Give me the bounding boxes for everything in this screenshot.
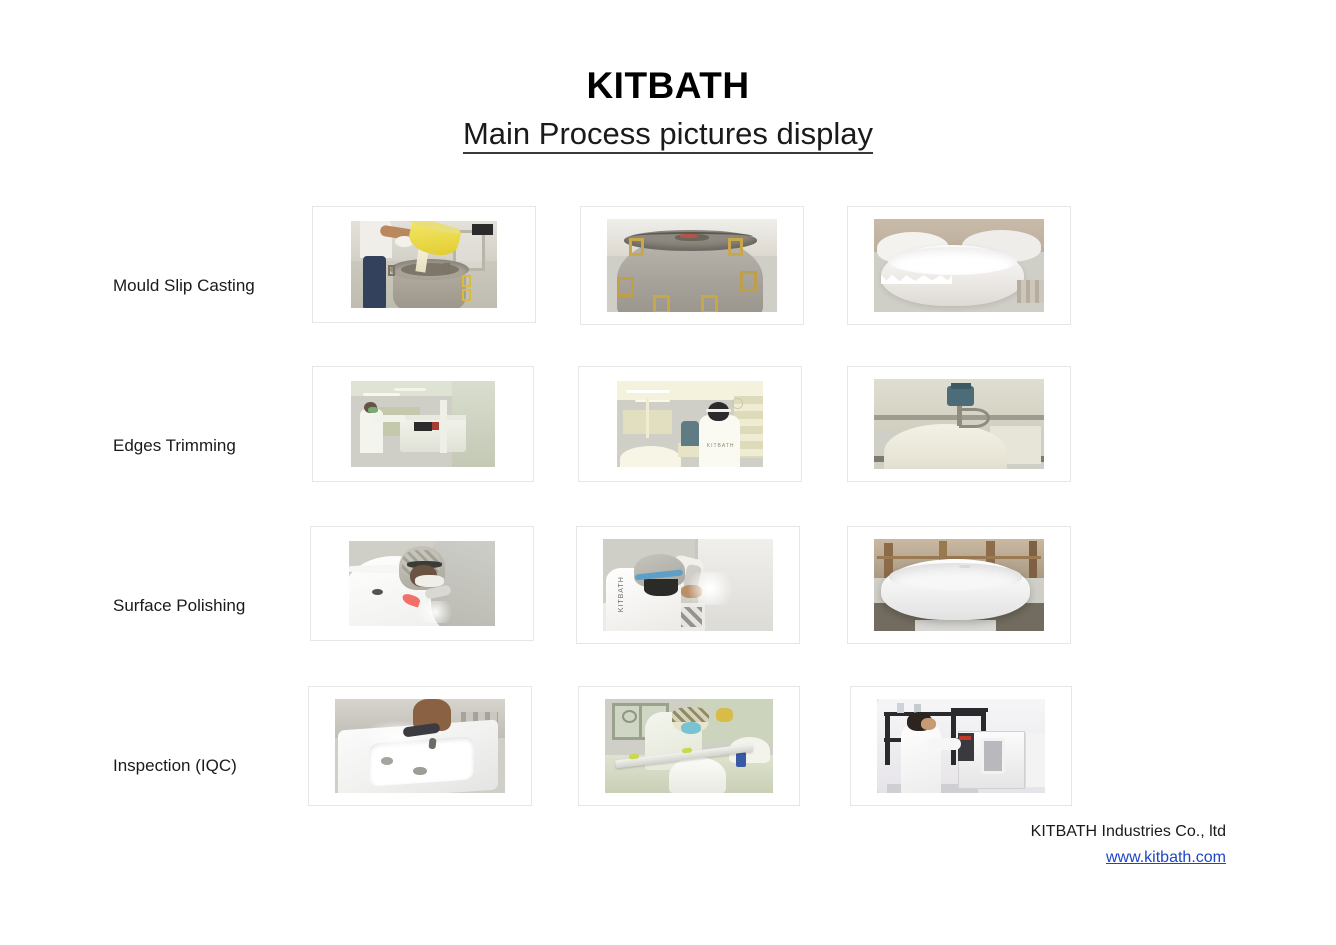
row-label-surface-polishing: Surface Polishing — [113, 526, 313, 686]
photo-frame-inspection-2[interactable] — [578, 686, 800, 806]
row-label-edges-trimming: Edges Trimming — [113, 366, 313, 526]
process-row-edges-trimming: Edges Trimming KITBATH — [0, 366, 1336, 526]
photo-frame-casting-2[interactable] — [580, 206, 804, 325]
photo-frame-polishing-2[interactable]: KITBATH — [576, 526, 800, 644]
photo-frame-trimming-3[interactable] — [847, 366, 1071, 482]
photo-frame-inspection-1[interactable] — [308, 686, 532, 806]
photo-frame-casting-1[interactable] — [312, 206, 536, 323]
photo-worker-pouring-slip — [351, 221, 497, 308]
company-name: KITBATH Industries Co., ltd — [1031, 820, 1226, 844]
photo-trimming-station — [351, 381, 495, 467]
photo-polishing-closeup — [349, 541, 495, 626]
process-grid: Mould Slip Casting — [0, 206, 1336, 846]
photo-frame-polishing-1[interactable] — [310, 526, 534, 641]
photo-finished-bathtub — [874, 539, 1044, 631]
shirt-logo-text: KITBATH — [613, 579, 630, 610]
photo-torch-inspection — [335, 699, 505, 793]
photo-frame-trimming-1[interactable] — [312, 366, 534, 482]
photo-frame-polishing-3[interactable] — [847, 526, 1071, 644]
row-label-mould-slip-casting: Mould Slip Casting — [113, 206, 313, 366]
process-row-surface-polishing: Surface Polishing KITBATH — [0, 526, 1336, 686]
slide-title-block: KITBATH Main Process pictures display — [0, 66, 1336, 154]
process-row-mould-slip-casting: Mould Slip Casting — [0, 206, 1336, 366]
photo-worker-operating-machine: KITBATH — [617, 381, 763, 467]
photo-plaster-mould-clamps — [607, 219, 777, 312]
photo-frame-trimming-2[interactable]: KITBATH — [578, 366, 802, 482]
website-link[interactable]: www.kitbath.com — [1106, 846, 1226, 870]
photo-frame-casting-3[interactable] — [847, 206, 1071, 325]
shirt-logo-text: KITBATH — [708, 443, 734, 449]
photo-raw-cast-bathtubs — [874, 219, 1044, 312]
row-label-inspection-iqc: Inspection (IQC) — [113, 686, 313, 846]
photo-spirit-level-check — [605, 699, 773, 793]
page-subtitle: Main Process pictures display — [463, 116, 873, 155]
photo-frame-inspection-3[interactable] — [850, 686, 1072, 806]
slide-subtitle-wrap: Main Process pictures display — [0, 116, 1336, 155]
photo-lab-test-oven — [877, 699, 1045, 793]
photo-worker-polishing-light: KITBATH — [603, 539, 773, 631]
footer: KITBATH Industries Co., ltd www.kitbath.… — [1031, 820, 1226, 870]
photo-machine-trimming-edge — [874, 379, 1044, 469]
page-title: KITBATH — [0, 66, 1336, 107]
